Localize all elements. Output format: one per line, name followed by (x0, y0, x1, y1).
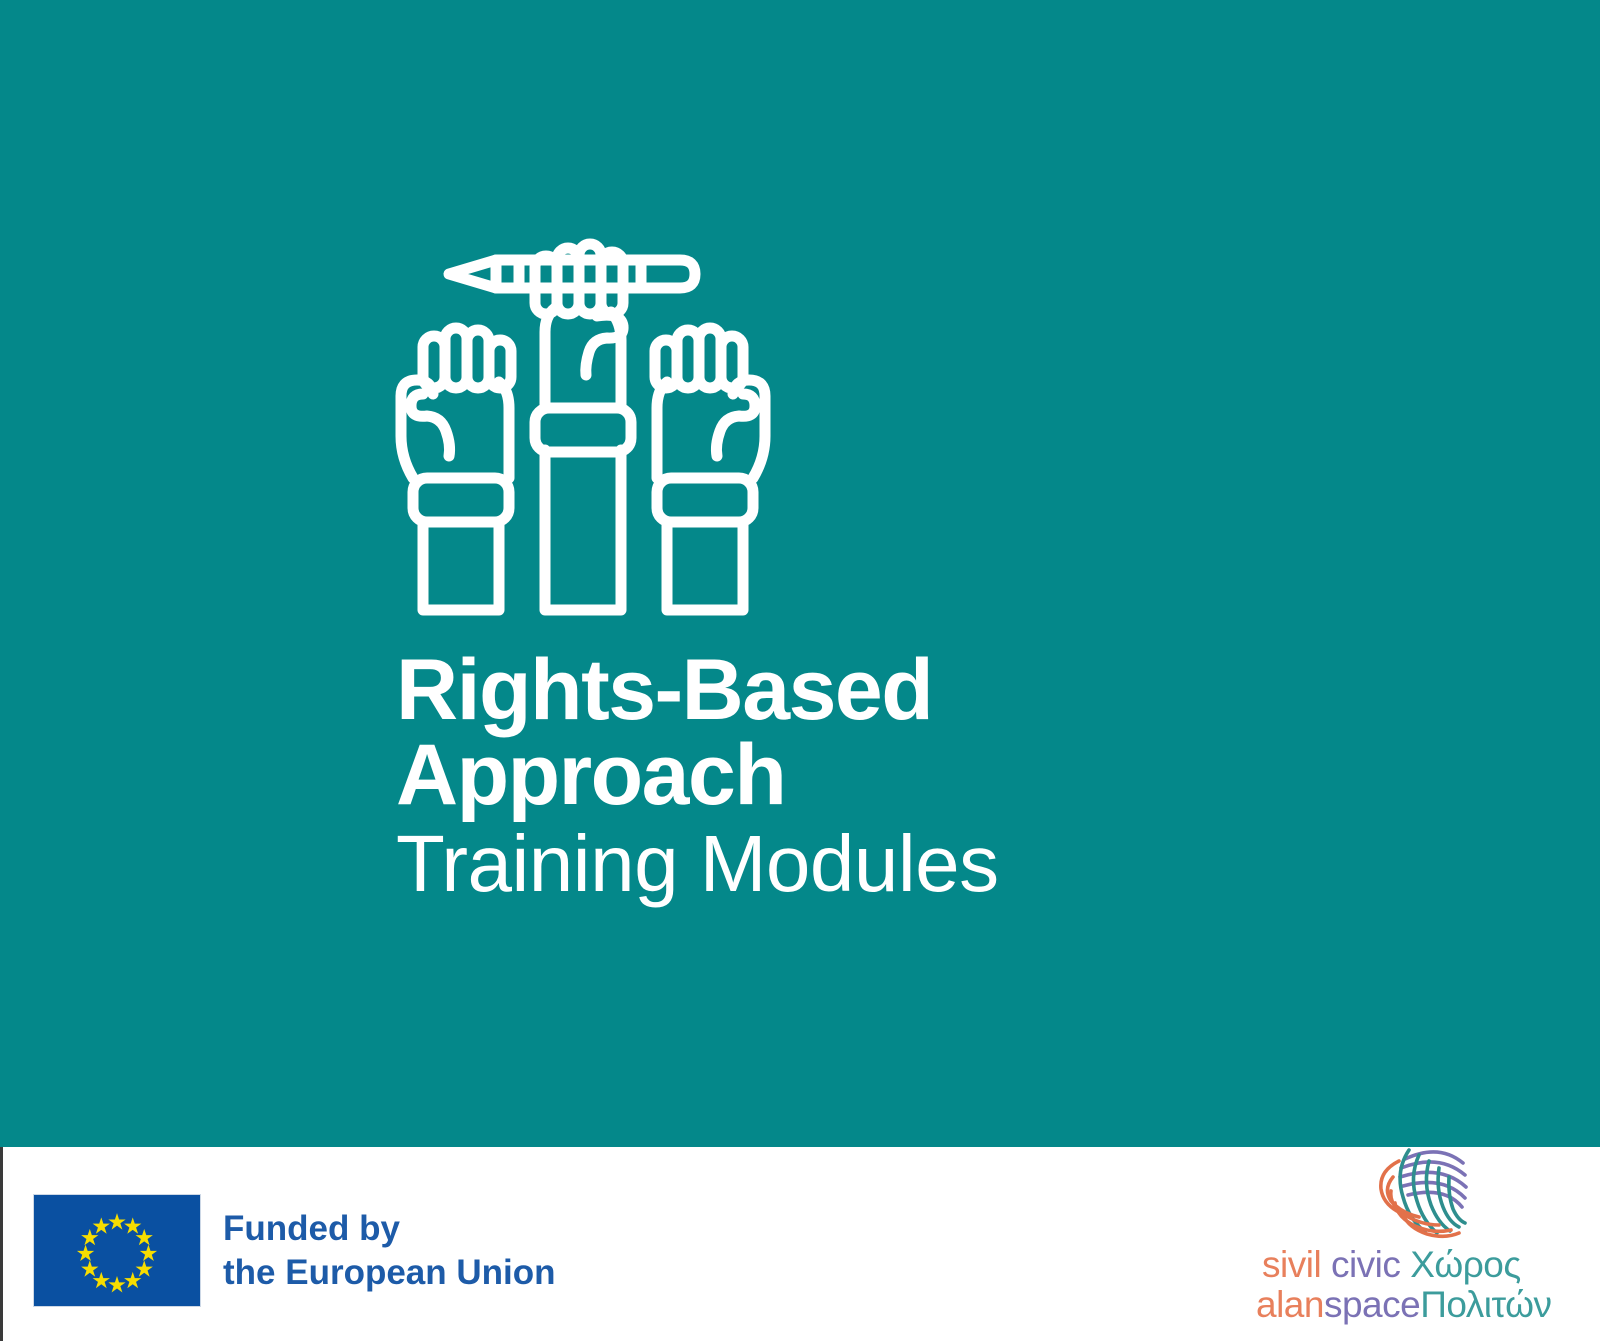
eu-funding-block: Funded by the European Union (33, 1194, 556, 1307)
title-block: Rights-Based Approach Training Modules (396, 648, 1396, 903)
eu-funding-line-2: the European Union (223, 1251, 556, 1295)
page-title-line-2: Approach (396, 733, 1396, 818)
three-raised-fists-with-pencil-icon (383, 212, 783, 622)
wordmark-civic: civic (1331, 1244, 1400, 1285)
wordmark-space: space (1324, 1284, 1420, 1325)
wordmark-politon: Πολιτών (1420, 1284, 1551, 1325)
footer-band: Funded by the European Union (0, 1147, 1600, 1341)
civic-space-globe-swirl-logo (1353, 1141, 1493, 1249)
eu-funding-text: Funded by the European Union (223, 1207, 556, 1295)
hero-panel: Rights-Based Approach Training Modules (0, 0, 1600, 1147)
eu-funding-line-1: Funded by (223, 1207, 556, 1251)
page-subtitle: Training Modules (396, 824, 1396, 903)
wordmark-xoros: Χώρος (1410, 1244, 1521, 1285)
wordmark-alan: alan (1256, 1284, 1324, 1325)
slide-canvas: Rights-Based Approach Training Modules (0, 0, 1600, 1341)
european-union-flag (33, 1194, 201, 1307)
wordmark-row-2: alanspaceΠολιτών (1256, 1285, 1600, 1325)
wordmark-row-1: sivil civic Χώρος (1256, 1245, 1600, 1285)
civic-space-wordmark: sivil civic Χώρος alanspaceΠολιτών (1256, 1245, 1600, 1324)
civic-space-logo: sivil civic Χώρος alanspaceΠολιτών (1250, 1141, 1600, 1341)
wordmark-sivil: sivil (1262, 1244, 1321, 1285)
page-title-line-1: Rights-Based (396, 648, 1396, 733)
